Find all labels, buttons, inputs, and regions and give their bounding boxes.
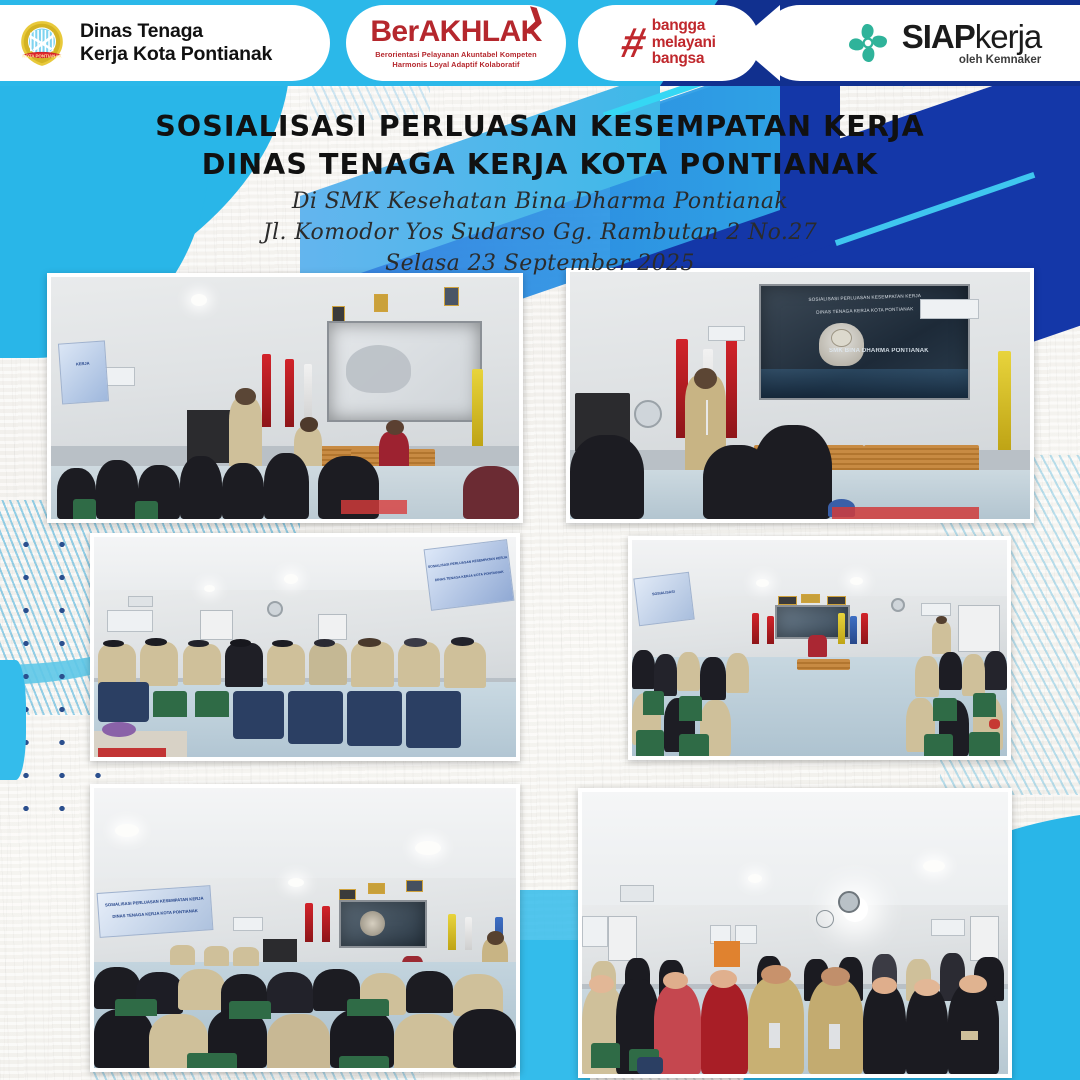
bangga-line2: melayani [652,35,716,52]
photo-3-banner-text-1: SOSIALISASI PERLUASAN KESEMPATAN KERJA [427,555,509,569]
photo-1: KERJA [47,273,523,523]
subtitle-line-1: Di SMK Kesehatan Bina Dharma Pontianak [0,186,1080,217]
poster-canvas: KOTA PONTIANAK Dinas Tenaga Kerja Kota P… [0,0,1080,1080]
siapkerja-name: SIAPkerja [902,20,1042,53]
subtitle-line-3: Selasa 23 September 2025 [0,248,1080,279]
svg-text:KOTA PONTIANAK: KOTA PONTIANAK [22,54,62,59]
photo-6 [578,788,1012,1078]
hashtag-icon: # [619,25,650,61]
siapkerja-thin: kerja [975,18,1042,55]
bangga-logo: # bangga melayani bangsa [622,18,715,68]
photo-4: SOSIALISASI [628,536,1011,760]
poster-title: SOSIALISASI PERLUASAN KESEMPATAN KERJA D… [0,108,1080,184]
berakhlak-logo: BerAKHLAK❯ Berorientasi Pelayanan Akunta… [370,17,541,70]
photo-4-banner-text: SOSIALISASI [636,588,690,599]
siapkerja-subtitle: oleh Kemnaker [902,55,1042,67]
berakhlak-tagline: Berorientasi Pelayanan Akuntabel Kompete… [370,50,541,70]
bangga-line3: bangsa [652,51,716,68]
photo-3-banner-text-2: DINAS TENAGA KERJA KOTA PONTIANAK [429,568,511,582]
berakhlak-tagline-line2: Harmonis Loyal Adaptif Kolaboratif [370,60,541,70]
photo-5-banner-text-1: SOSIALISASI PERLUASAN KESEMPATAN KERJA [99,895,211,908]
photo-5-banner-text-2: DINAS TENAGA KERJA KOTA PONTIANAK [99,906,211,919]
photo-3: SOSIALISASI PERLUASAN KESEMPATAN KERJA D… [90,533,520,761]
org-name: Dinas Tenaga Kerja Kota Pontianak [80,20,272,66]
bangga-melayani-bangsa-pill: # bangga melayani bangsa [578,5,760,81]
org-name-line1: Dinas Tenaga [80,20,272,43]
title-line-2: DINAS TENAGA KERJA KOTA PONTIANAK [0,146,1080,184]
siapkerja-wordmark: SIAPkerja oleh Kemnaker [902,20,1042,67]
subtitle-line-2: Jl. Komodor Yos Sudarso Gg. Rambutan 2 N… [0,217,1080,248]
berakhlak-wordmark: BerAKHLAK❯ [370,17,541,47]
berakhlak-pill: BerAKHLAK❯ Berorientasi Pelayanan Akunta… [346,5,566,81]
photo-2: SOSIALISASI PERLUASAN KESEMPATAN KERJA D… [566,268,1034,523]
photo-2-screen-school: SMK BINA DHARMA PONTIANAK [806,347,951,355]
check-tick-icon: ❯ [522,3,549,33]
photo-5: SOSIALISASI PERLUASAN KESEMPATAN KERJA D… [90,784,520,1072]
siapkerja-pill: SIAPkerja oleh Kemnaker [762,5,1080,81]
org-identity-pill: KOTA PONTIANAK Dinas Tenaga Kerja Kota P… [0,5,330,81]
berakhlak-prefix: Ber [370,15,418,48]
pontianak-city-crest-icon: KOTA PONTIANAK [16,17,68,69]
siapkerja-bold: SIAP [902,18,975,55]
title-line-1: SOSIALISASI PERLUASAN KESEMPATAN KERJA [0,108,1080,146]
siapkerja-pinwheel-icon [843,18,893,68]
bangga-wordmark: bangga melayani bangsa [652,18,716,68]
org-name-line2: Kerja Kota Pontianak [80,43,272,66]
photo-1-banner-text: KERJA [61,359,106,367]
bangga-line1: bangga [652,18,716,35]
siapkerja-logo: SIAPkerja oleh Kemnaker [843,18,1042,68]
berakhlak-tagline-line1: Berorientasi Pelayanan Akuntabel Kompete… [370,50,541,60]
poster-subtitle: Di SMK Kesehatan Bina Dharma Pontianak J… [0,186,1080,280]
